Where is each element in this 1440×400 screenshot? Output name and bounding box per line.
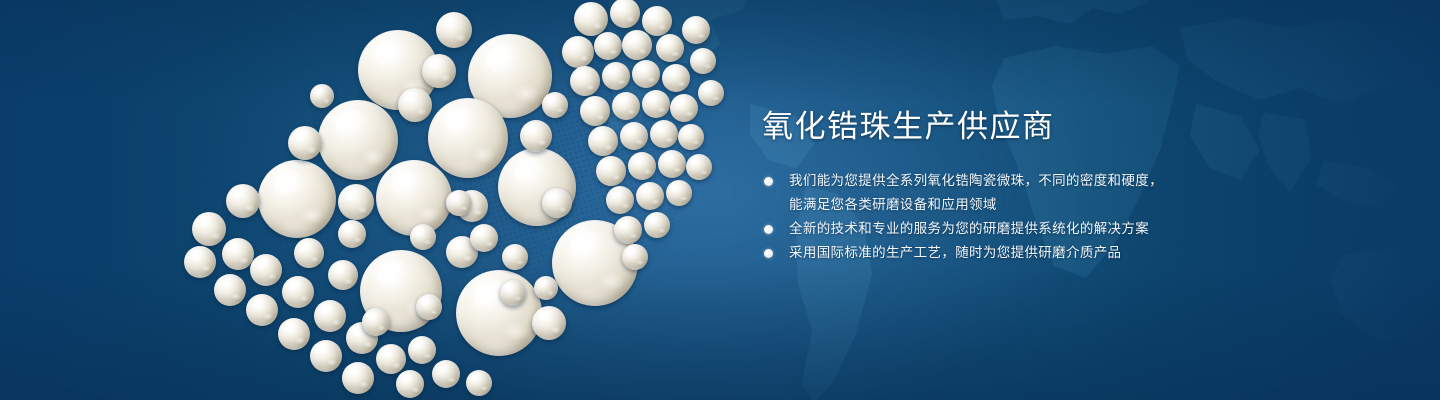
bead [328,260,358,290]
bead [628,152,656,180]
bead [432,360,460,388]
bead [656,34,684,62]
bead [214,274,246,306]
bead [658,150,686,178]
list-item-line-1: 我们能为您提供全系列氧化锆陶瓷微珠，不同的密度和硬度， [789,173,1163,189]
bead [642,6,672,36]
bead [422,54,456,88]
bead [294,238,324,268]
bead [184,246,216,278]
bead [222,238,254,270]
bead [258,160,336,238]
list-item: 全新的技术和专业的服务为您的研磨提供系统化的解决方案 [762,217,1232,241]
bead [662,64,690,92]
bead [362,308,390,336]
bead [562,36,594,68]
bead [192,212,226,246]
bead [602,62,630,90]
bead [698,80,724,106]
bead [376,160,452,236]
bead [580,96,610,126]
bead [570,66,600,96]
bead [620,122,648,150]
bullet-dot-icon [764,249,773,258]
bead [310,84,334,108]
bead [410,224,436,250]
bead [408,336,436,364]
bead [650,120,678,148]
bead [470,224,498,252]
bullet-dot-icon [764,225,773,234]
bead [398,88,432,122]
bead [670,94,698,122]
bullet-dot-icon [764,177,773,186]
bead [666,180,692,206]
bead [226,184,260,218]
bead [338,184,374,220]
bead [690,48,716,74]
bead [396,370,424,398]
bead [588,126,618,156]
bead [678,124,704,150]
bead [610,0,640,28]
bead [428,98,508,178]
bead [520,120,552,152]
bead [250,254,282,286]
banner-copy: 氧化锆珠生产供应商 我们能为您提供全系列氧化锆陶瓷微珠，不同的密度和硬度， 能满… [762,108,1232,265]
page-title: 氧化锆珠生产供应商 [762,108,1232,147]
bead [606,186,634,214]
list-item-line-2: 能满足您各类研磨设备和应用领域 [789,193,1232,217]
bead [376,344,406,374]
bead [500,280,526,306]
list-item: 采用国际标准的生产工艺，随时为您提供研磨介质产品 [762,241,1232,265]
list-item-line-1: 采用国际标准的生产工艺，随时为您提供研磨介质产品 [789,245,1121,261]
bead [436,12,472,48]
bead [342,362,374,394]
bead [278,318,310,350]
feature-list: 我们能为您提供全系列氧化锆陶瓷微珠，不同的密度和硬度， 能满足您各类研磨设备和应… [762,169,1232,265]
hero-banner: 氧化锆珠生产供应商 我们能为您提供全系列氧化锆陶瓷微珠，不同的密度和硬度， 能满… [0,0,1440,400]
bead [532,306,566,340]
bead [574,2,608,36]
bead [288,126,322,160]
bead [686,154,712,180]
bead [542,188,572,218]
bead [318,100,398,180]
bead [612,92,640,120]
zirconia-bead-cluster-image [170,0,730,400]
bead [596,156,626,186]
bead [614,216,642,244]
bead [682,16,710,44]
bead [534,276,558,300]
bead [542,92,568,118]
bead [314,300,346,332]
bead [632,60,660,88]
bead [642,90,670,118]
bead [282,276,314,308]
bead [622,244,648,270]
bead [622,30,652,60]
bead [502,244,528,270]
bead [456,270,542,356]
bead [594,32,622,60]
bead [246,294,278,326]
bead [644,212,670,238]
bead [446,190,472,216]
list-item: 我们能为您提供全系列氧化锆陶瓷微珠，不同的密度和硬度， 能满足您各类研磨设备和应… [762,169,1232,217]
list-item-line-1: 全新的技术和专业的服务为您的研磨提供系统化的解决方案 [789,221,1149,237]
bead [416,294,442,320]
bead [338,220,366,248]
bead [636,182,664,210]
bead [310,340,342,372]
bead [466,370,492,396]
